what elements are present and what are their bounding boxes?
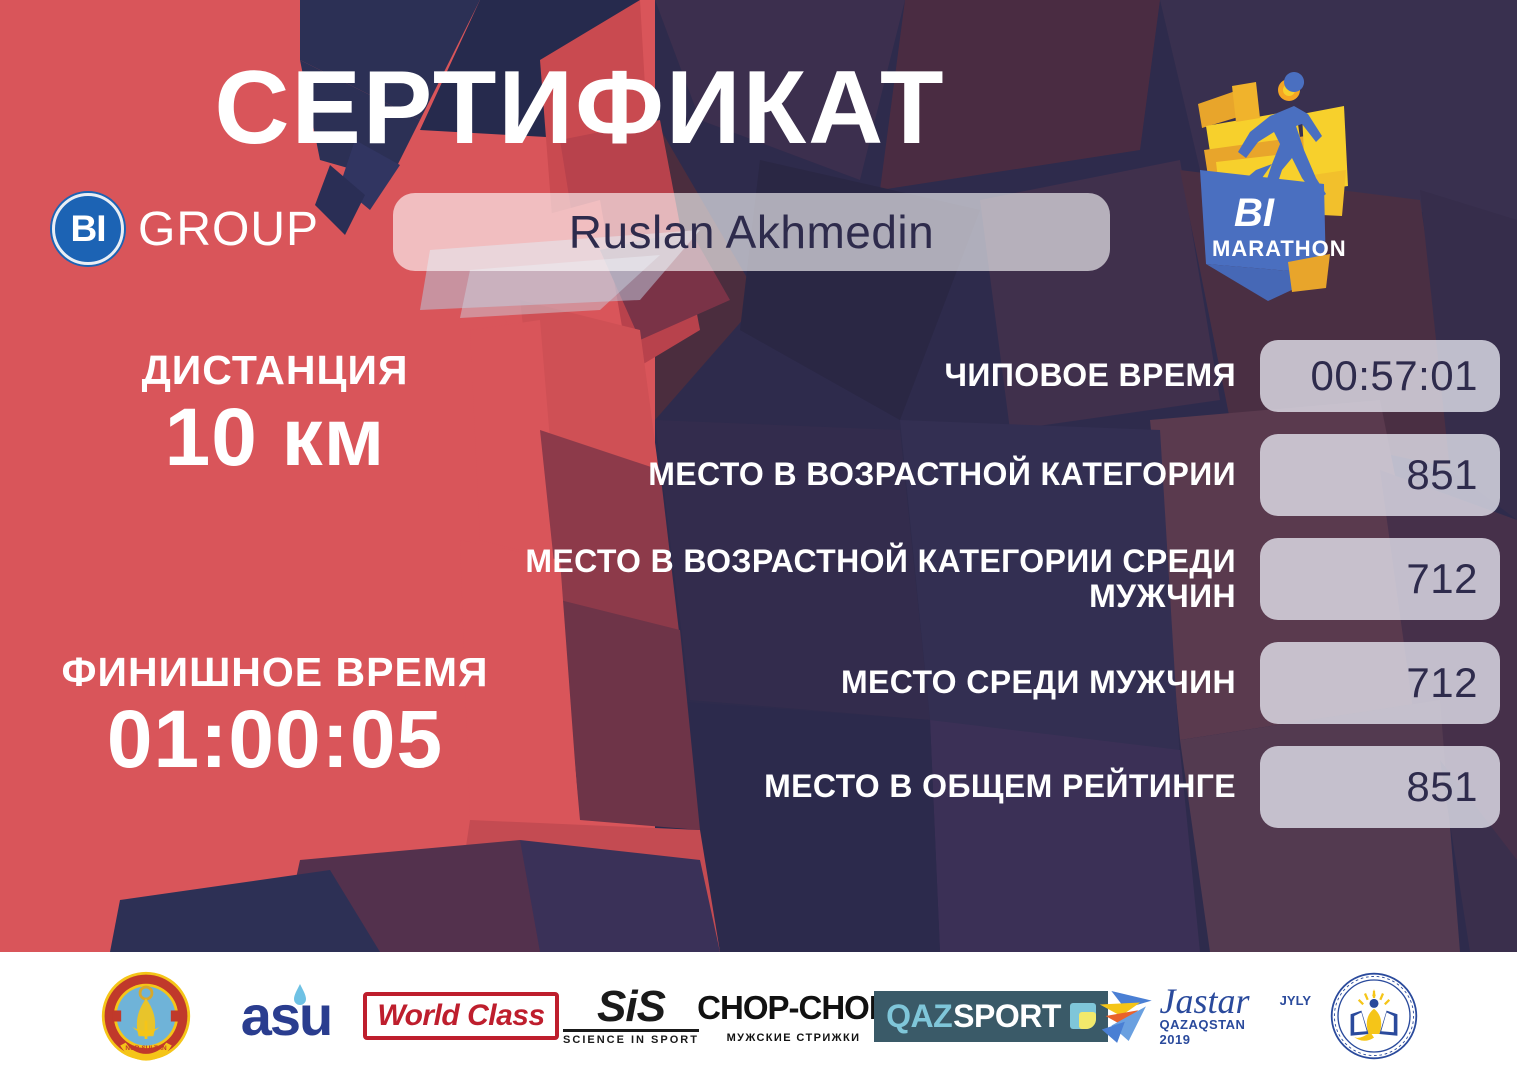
distance-label: ДИСТАНЦИЯ bbox=[10, 348, 540, 394]
stat-value: 851 bbox=[1260, 434, 1500, 516]
bi-circle-icon: BI bbox=[52, 193, 124, 265]
participant-name-pill: Ruslan Akhmedin bbox=[393, 193, 1110, 271]
stat-label: МЕСТО В ОБЩЕМ РЕЙТИНГЕ bbox=[500, 769, 1260, 804]
nur-sultan-text: NUR-SULTAN bbox=[125, 1045, 167, 1052]
stat-row-age-category-place: МЕСТО В ВОЗРАСТНОЙ КАТЕГОРИИ 851 bbox=[500, 434, 1500, 516]
distance-block: ДИСТАНЦИЯ 10 км bbox=[10, 348, 540, 482]
asu-wordmark: asu bbox=[241, 988, 332, 1044]
chop-chop-wordmark: CHOP-CHOP bbox=[697, 989, 890, 1027]
sis-tagline: SCIENCE IN SPORT bbox=[563, 1029, 699, 1046]
bi-group-logo: BI GROUP bbox=[52, 193, 319, 265]
stat-value: 851 bbox=[1260, 746, 1500, 828]
qazsport-qaz-text: QAZ bbox=[886, 998, 952, 1035]
jastar-jyly-text: JYLY bbox=[1280, 993, 1311, 1008]
sponsor-world-class-logo: World Class bbox=[361, 966, 561, 1066]
stat-label: МЕСТО СРЕДИ МУЖЧИН bbox=[500, 665, 1260, 700]
stat-row-age-category-men-place: МЕСТО В ВОЗРАСТНОЙ КАТЕГОРИИ СРЕДИ МУЖЧИ… bbox=[500, 538, 1500, 620]
stat-label: МЕСТО В ВОЗРАСТНОЙ КАТЕГОРИИ СРЕДИ МУЖЧИ… bbox=[500, 544, 1260, 614]
sponsor-asu-logo: asu bbox=[211, 966, 361, 1066]
finish-time-label: ФИНИШНОЕ ВРЕМЯ bbox=[10, 650, 540, 696]
stat-row-men-place: МЕСТО СРЕДИ МУЖЧИН 712 bbox=[500, 642, 1500, 724]
bi-marathon-word-text: MARATHON bbox=[1212, 236, 1347, 261]
world-class-wordmark: World Class bbox=[377, 999, 544, 1032]
chop-chop-tagline: МУЖСКИЕ СТРИЖКИ bbox=[697, 1032, 890, 1044]
stat-label: МЕСТО В ВОЗРАСТНОЙ КАТЕГОРИИ bbox=[500, 457, 1260, 492]
sponsor-strip: NUR-SULTAN asu World Class SiS SCIENCE I… bbox=[0, 952, 1517, 1080]
distance-value: 10 км bbox=[10, 394, 540, 483]
stat-label: ЧИПОВОЕ ВРЕМЯ bbox=[500, 358, 1260, 393]
certificate-canvas: СЕРТИФИКАТ Ruslan Akhmedin BI GROUP bbox=[0, 0, 1517, 1080]
jastar-wordmark: Jastar bbox=[1160, 985, 1250, 1017]
bi-marathon-logo: BI MARATHON bbox=[1176, 66, 1376, 301]
qazsport-square-icon bbox=[1070, 1003, 1096, 1029]
sponsor-qazsport-logo: QAZ SPORT bbox=[886, 966, 1096, 1066]
bi-group-wordmark: GROUP bbox=[138, 202, 319, 257]
stat-value: 00:57:01 bbox=[1260, 340, 1500, 412]
stat-value: 712 bbox=[1260, 538, 1500, 620]
sponsor-jastar-logo: Jastar QAZAQSTAN 2019 JYLY bbox=[1096, 966, 1311, 1066]
stat-value: 712 bbox=[1260, 642, 1500, 724]
finish-time-value: 01:00:05 bbox=[10, 696, 540, 785]
sponsor-sis-logo: SiS SCIENCE IN SPORT bbox=[561, 966, 701, 1066]
sis-wordmark: SiS bbox=[563, 986, 699, 1028]
stats-list: ЧИПОВОЕ ВРЕМЯ 00:57:01 МЕСТО В ВОЗРАСТНО… bbox=[500, 340, 1500, 850]
sponsor-chop-chop-logo: CHOP-CHOP МУЖСКИЕ СТРИЖКИ bbox=[701, 966, 886, 1066]
qazsport-sport-text: SPORT bbox=[953, 998, 1061, 1035]
sponsor-ministry-emblem bbox=[1311, 966, 1436, 1066]
jastar-subtitle: QAZAQSTAN 2019 bbox=[1160, 1017, 1276, 1047]
page-title: СЕРТИФИКАТ bbox=[0, 56, 1160, 160]
participant-name: Ruslan Akhmedin bbox=[569, 205, 934, 259]
finish-time-block: ФИНИШНОЕ ВРЕМЯ 01:00:05 bbox=[10, 650, 540, 784]
jastar-arrow-icon bbox=[1096, 986, 1156, 1046]
stat-row-chip-time: ЧИПОВОЕ ВРЕМЯ 00:57:01 bbox=[500, 340, 1500, 412]
sponsor-nur-sultan-emblem: NUR-SULTAN bbox=[81, 966, 211, 1066]
bi-marathon-bi-text: BI bbox=[1234, 191, 1275, 235]
stat-row-overall-place: МЕСТО В ОБЩЕМ РЕЙТИНГЕ 851 bbox=[500, 746, 1500, 828]
